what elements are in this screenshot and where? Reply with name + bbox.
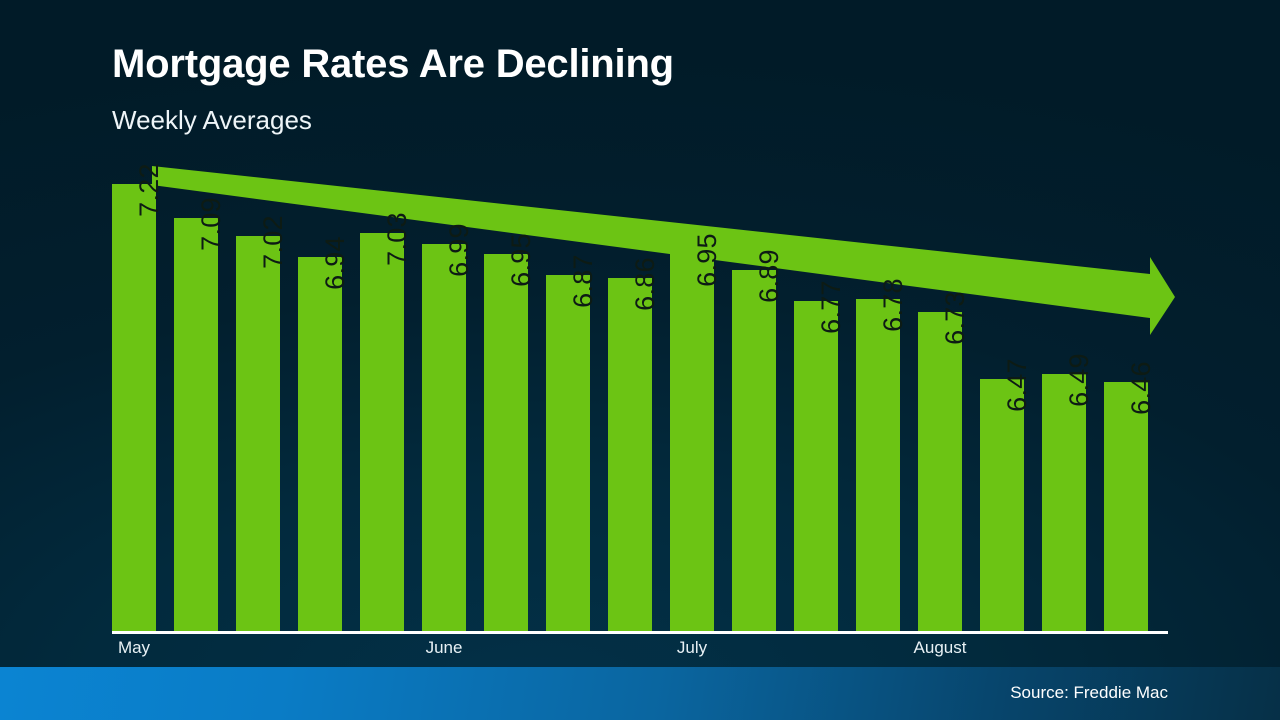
bar-value-label: 7.22 bbox=[134, 163, 165, 217]
x-axis-tick-label: July bbox=[677, 638, 707, 658]
bar[interactable]: 6.95 bbox=[670, 254, 714, 632]
x-axis-tick-label: August bbox=[914, 638, 967, 658]
bar-value-label: 7.09 bbox=[196, 197, 227, 251]
bar-value-label: 6.49 bbox=[1064, 353, 1095, 407]
source-attribution: Source: Freddie Mac bbox=[1010, 683, 1168, 703]
bar-value-label: 6.47 bbox=[1002, 358, 1033, 412]
bar-value-label: 6.94 bbox=[320, 236, 351, 290]
bar-value-label: 6.99 bbox=[444, 223, 475, 277]
bar[interactable]: 6.87 bbox=[546, 275, 590, 632]
bar[interactable]: 6.89 bbox=[732, 270, 776, 632]
bar[interactable]: 6.78 bbox=[856, 299, 900, 633]
bar[interactable]: 6.86 bbox=[608, 278, 652, 632]
bar[interactable]: 7.09 bbox=[174, 218, 218, 632]
bar-value-label: 6.95 bbox=[692, 233, 723, 287]
bar-value-label: 6.95 bbox=[506, 233, 537, 287]
x-axis-line bbox=[112, 631, 1168, 634]
bar[interactable]: 6.47 bbox=[980, 379, 1024, 632]
bar-value-label: 6.89 bbox=[754, 249, 785, 303]
x-axis-tick-label: June bbox=[426, 638, 463, 658]
bar[interactable]: 6.49 bbox=[1042, 374, 1086, 632]
bar-value-label: 7.03 bbox=[382, 213, 413, 267]
bar[interactable]: 6.95 bbox=[484, 254, 528, 632]
x-axis-tick-label: May bbox=[118, 638, 150, 658]
page-title: Mortgage Rates Are Declining bbox=[112, 42, 674, 87]
bar-value-label: 6.46 bbox=[1126, 361, 1157, 415]
bar[interactable]: 6.99 bbox=[422, 244, 466, 632]
bar-value-label: 7.02 bbox=[258, 215, 289, 269]
bar-value-label: 6.77 bbox=[816, 280, 847, 334]
bar[interactable]: 7.03 bbox=[360, 233, 404, 632]
bar[interactable]: 6.73 bbox=[918, 312, 962, 633]
bar-value-label: 6.86 bbox=[630, 257, 661, 311]
bar[interactable]: 7.22 bbox=[112, 184, 156, 632]
page-subtitle: Weekly Averages bbox=[112, 105, 312, 136]
bar-value-label: 6.87 bbox=[568, 254, 599, 308]
bar[interactable]: 6.94 bbox=[298, 257, 342, 632]
bar[interactable]: 7.02 bbox=[236, 236, 280, 632]
bar-chart-plot: 7.227.097.026.947.036.996.956.876.866.95… bbox=[112, 150, 1172, 632]
bar[interactable]: 6.46 bbox=[1104, 382, 1148, 632]
chart-slide: Mortgage Rates Are Declining Weekly Aver… bbox=[0, 0, 1280, 720]
bar-value-label: 6.73 bbox=[940, 291, 971, 345]
bar-value-label: 6.78 bbox=[878, 278, 909, 332]
bar[interactable]: 6.77 bbox=[794, 301, 838, 632]
